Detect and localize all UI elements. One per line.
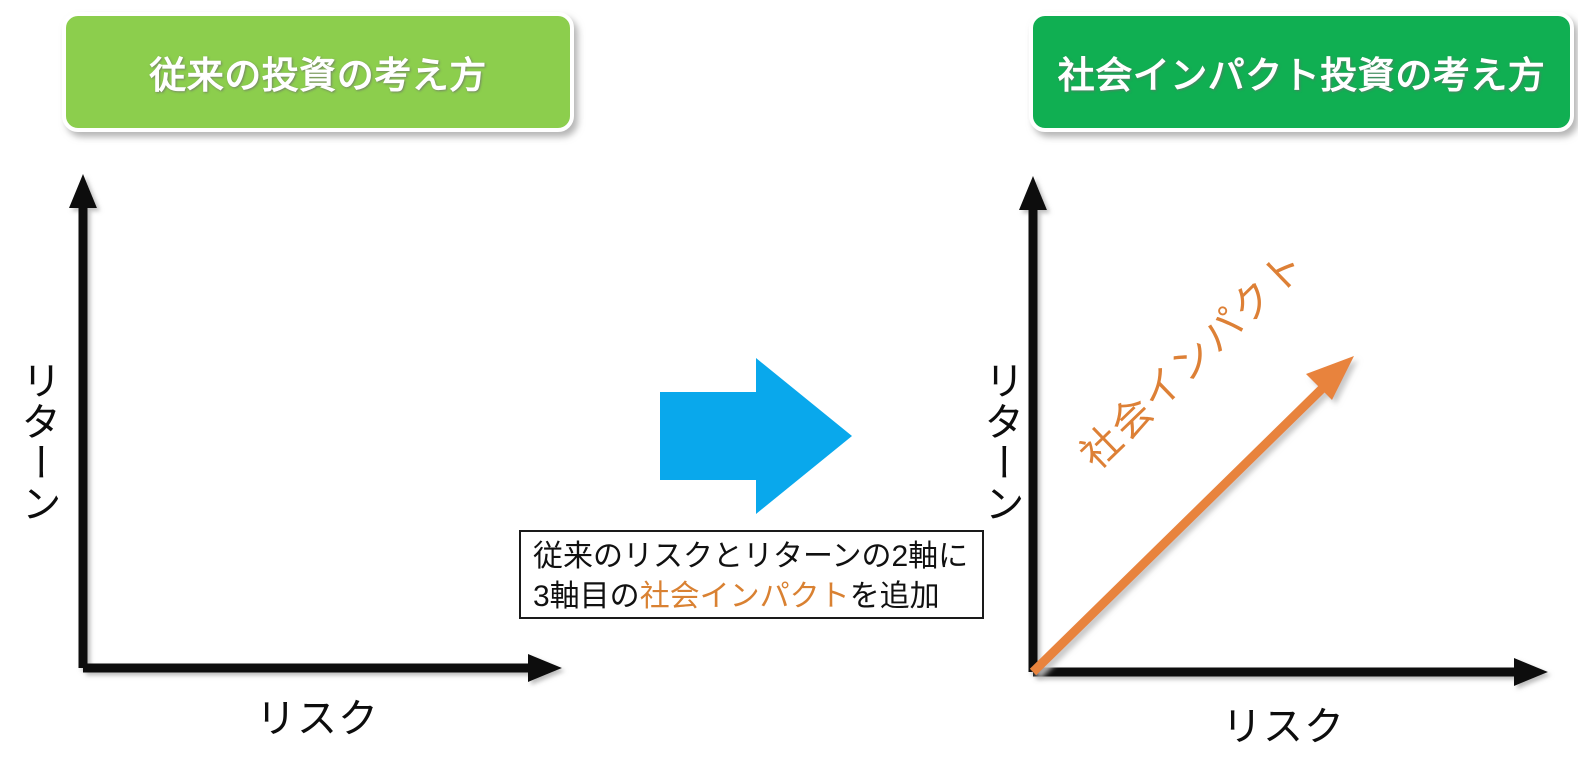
explanatory-note-box: 従来のリスクとリターンの2軸に 3軸目の社会インパクトを追加 <box>519 530 984 619</box>
note-line-2-prefix: 3軸目の <box>533 580 640 613</box>
left-panel-heading-text: 従来の投資の考え方 <box>149 45 487 99</box>
left-y-axis-label: リターン <box>16 360 58 524</box>
left-axes-svg <box>20 160 600 700</box>
right-x-axis-arrowhead-icon <box>1514 658 1548 686</box>
right-y-axis-arrowhead-icon <box>1019 176 1047 210</box>
left-x-axis-arrowhead-icon <box>528 654 562 682</box>
left-chart-axes <box>20 160 600 700</box>
right-panel-heading-text: 社会インパクト投資の考え方 <box>1058 45 1546 99</box>
left-x-axis-label: リスク <box>256 686 379 744</box>
transition-arrow <box>660 358 852 514</box>
note-line-2: 3軸目の社会インパクトを追加 <box>533 577 972 617</box>
left-y-axis-arrowhead-icon <box>69 174 97 208</box>
left-panel-heading-pill: 従来の投資の考え方 <box>62 12 574 132</box>
slide-canvas: 従来の投資の考え方 社会インパクト投資の考え方 リターン <box>0 0 1578 779</box>
right-x-axis-label: リスク <box>1222 694 1345 752</box>
impact-axis-line <box>1033 376 1335 672</box>
right-block-arrow-icon <box>660 358 852 514</box>
note-line-2-accent: 社会インパクト <box>640 580 850 613</box>
note-line-2-suffix: を追加 <box>850 580 940 613</box>
note-line-1: 従来のリスクとリターンの2軸に <box>533 537 972 577</box>
right-block-arrow-shape <box>660 358 852 514</box>
right-panel-heading-pill: 社会インパクト投資の考え方 <box>1029 12 1574 132</box>
